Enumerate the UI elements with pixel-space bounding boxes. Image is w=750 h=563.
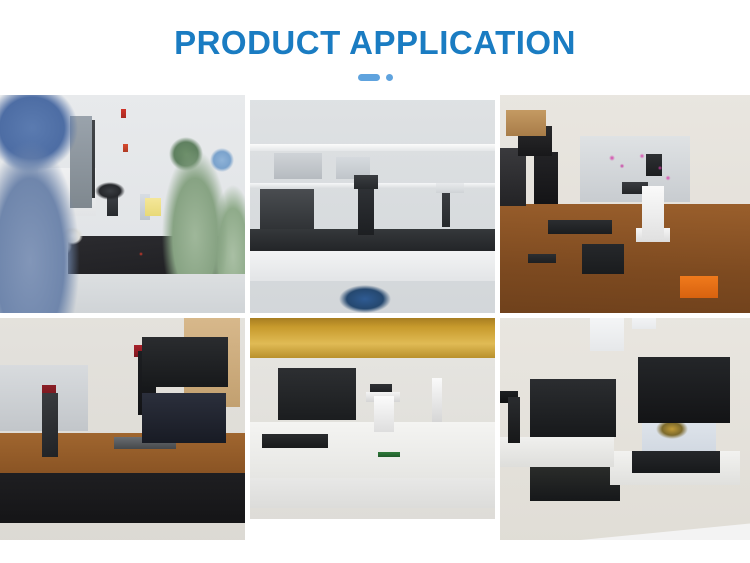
gallery-photo-top-center[interactable] [250,100,495,313]
gallery-photo-bottom-right[interactable] [500,318,750,540]
title-decoration [0,74,750,81]
photo-gallery-grid [0,95,750,547]
photo-image-cleanroom-operators [0,95,245,313]
gallery-photo-top-left[interactable] [0,95,245,313]
gallery-photo-bottom-left[interactable] [0,318,245,540]
photo-image-video-measuring-microscope [0,318,245,540]
page-title: PRODUCT APPLICATION [0,24,750,62]
photo-image-trinocular-microscope-desk [500,95,750,313]
photo-image-pathology-lab-bench [250,100,495,313]
page-header: PRODUCT APPLICATION [0,0,750,95]
photo-image-stereo-microscope-workstation [250,318,495,519]
decoration-pill-icon [358,74,380,81]
photo-image-dual-display-inspection [500,318,750,540]
product-application-page: PRODUCT APPLICATION [0,0,750,563]
gallery-photo-top-right[interactable] [500,95,750,313]
decoration-dot-icon [386,74,393,81]
gallery-photo-bottom-center[interactable] [250,318,495,519]
